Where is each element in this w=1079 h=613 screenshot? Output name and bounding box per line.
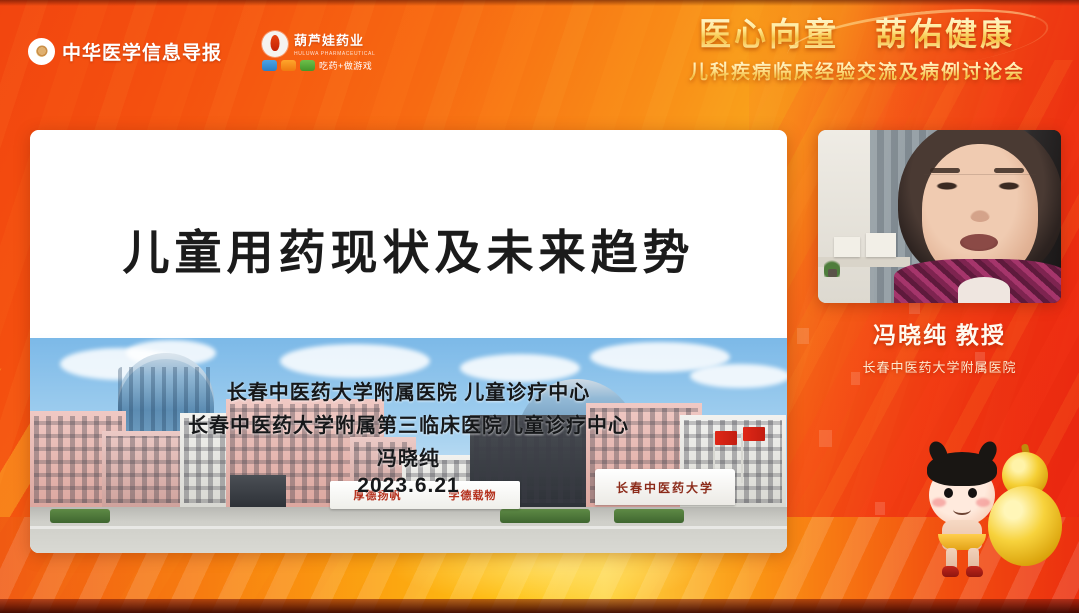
mascot-shoe-right	[966, 566, 983, 577]
presenter-collar	[958, 277, 1010, 303]
mascot-shoe-left	[942, 566, 959, 577]
logo-chip-blue	[262, 60, 277, 71]
presenter-mouth	[960, 234, 998, 251]
top-edge-shadow	[0, 0, 1079, 6]
video-wall	[818, 130, 874, 303]
logo-huluwa-pharmaceutical: 葫芦娃药业 HULUWA PHARMACEUTICAL 吃药+做游戏	[262, 30, 375, 72]
mascot-eye-right	[968, 488, 977, 498]
sponsor-logos: 中华医学信息导报 葫芦娃药业 HULUWA PHARMACEUTICAL 吃药+…	[28, 30, 375, 72]
mascot-blush-left	[932, 498, 946, 507]
logo-chip-orange	[281, 60, 296, 71]
event-subtitle: 儿科疾病临床经验交流及病例讨论会	[657, 57, 1057, 84]
speaker-name: 冯晓纯 教授	[818, 316, 1061, 350]
mascot-eye-left	[944, 488, 953, 498]
slide-line-4: 2023.6.21	[30, 474, 787, 498]
event-title: 医心向童 葫佑健康	[657, 16, 1057, 53]
slide-line-2: 长春中医药大学附属第三临床医院儿童诊疗中心	[30, 409, 787, 438]
video-box-1	[834, 237, 860, 257]
logo-huluwa-text: 葫芦娃药业	[294, 33, 364, 48]
mascot-smile	[953, 504, 971, 515]
calabash-boy-figure	[920, 450, 1006, 574]
logo-china-medical-association: 中华医学信息导报	[28, 38, 222, 65]
speaker-organization: 长春中医药大学附属医院	[818, 357, 1061, 376]
presentation-slide[interactable]: 儿童用药现状及未来趋势	[30, 130, 787, 553]
slide-title: 儿童用药现状及未来趋势	[30, 214, 787, 283]
huluwa-gourd-icon	[262, 31, 288, 57]
mascot-blush-right	[976, 498, 990, 507]
huluwa-mascot	[912, 440, 1070, 580]
logo-chip-green	[300, 60, 315, 71]
slide-subtitle-block: 长春中医药大学附属医院 儿童诊疗中心 长春中医药大学附属第三临床医院儿童诊疗中心…	[30, 376, 787, 498]
event-title-part2: 葫佑健康	[875, 16, 1015, 52]
slide-line-1: 长春中医药大学附属医院 儿童诊疗中心	[30, 376, 787, 405]
presenter-video[interactable]	[818, 130, 1061, 303]
event-branding: 医心向童 葫佑健康 儿科疾病临床经验交流及病例讨论会	[657, 16, 1057, 84]
photo-road-marking	[30, 526, 787, 529]
speaker-caption: 冯晓纯 教授 长春中医药大学附属医院	[818, 316, 1061, 376]
logo-huluwa-tagline: 吃药+做游戏	[319, 59, 372, 72]
cma-seal-icon	[28, 38, 55, 65]
header-bar: 中华医学信息导报 葫芦娃药业 HULUWA PHARMACEUTICAL 吃药+…	[0, 0, 1079, 108]
slide-line-3: 冯晓纯	[30, 442, 787, 471]
broadcast-stage: 中华医学信息导报 葫芦娃药业 HULUWA PHARMACEUTICAL 吃药+…	[0, 0, 1079, 613]
presenter-brow-left	[930, 168, 960, 173]
presenter-brow-right	[994, 168, 1024, 173]
presenter-nose	[970, 210, 990, 222]
presenter-glasses	[924, 174, 1036, 195]
logo-huluwa-pinyin: HULUWA PHARMACEUTICAL	[294, 51, 375, 57]
event-title-part1: 医心向童	[699, 16, 839, 52]
video-plant	[824, 255, 840, 277]
logo-cma-text: 中华医学信息导报	[62, 38, 222, 65]
video-box-2	[866, 233, 896, 257]
